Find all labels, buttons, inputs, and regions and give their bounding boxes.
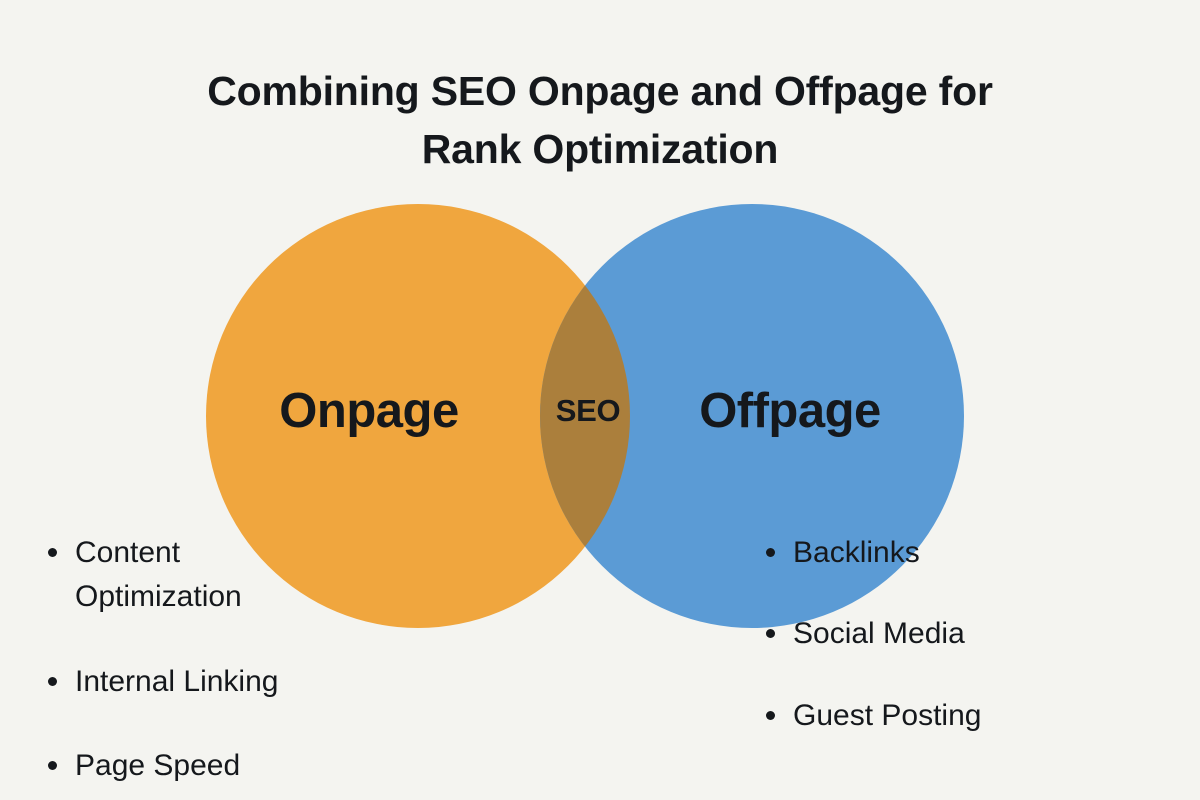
list-item: Internal Linking: [42, 660, 372, 704]
list-item-label: Page Speed: [75, 744, 372, 788]
list-item-label: Social Media: [793, 612, 965, 656]
list-item-label: Content Optimization: [75, 531, 372, 620]
list-item: Social Media: [760, 612, 1160, 656]
bullet-dot-icon: [48, 677, 57, 686]
bullet-dot-icon: [48, 761, 57, 770]
onpage-factor-list: Content Optimization Internal Linking Pa…: [42, 531, 372, 789]
infographic-canvas: Combining SEO Onpage and Offpage for Ran…: [0, 0, 1200, 800]
list-item: Page Speed: [42, 744, 372, 788]
venn-label-onpage: Onpage: [208, 383, 530, 439]
list-item-label: Backlinks: [793, 531, 920, 575]
list-item: Content Optimization: [42, 531, 372, 620]
offpage-factor-list: Backlinks Social Media Guest Posting: [760, 531, 1160, 738]
bullet-dot-icon: [766, 629, 775, 638]
list-item-label: Guest Posting: [793, 694, 981, 738]
list-item: Guest Posting: [760, 694, 1160, 738]
venn-label-offpage: Offpage: [640, 383, 940, 439]
bullet-dot-icon: [48, 548, 57, 557]
bullet-dot-icon: [766, 548, 775, 557]
list-item-label: Internal Linking: [75, 660, 372, 704]
venn-label-overlap-seo: SEO: [538, 393, 638, 429]
bullet-dot-icon: [766, 711, 775, 720]
list-item: Backlinks: [760, 531, 1160, 575]
